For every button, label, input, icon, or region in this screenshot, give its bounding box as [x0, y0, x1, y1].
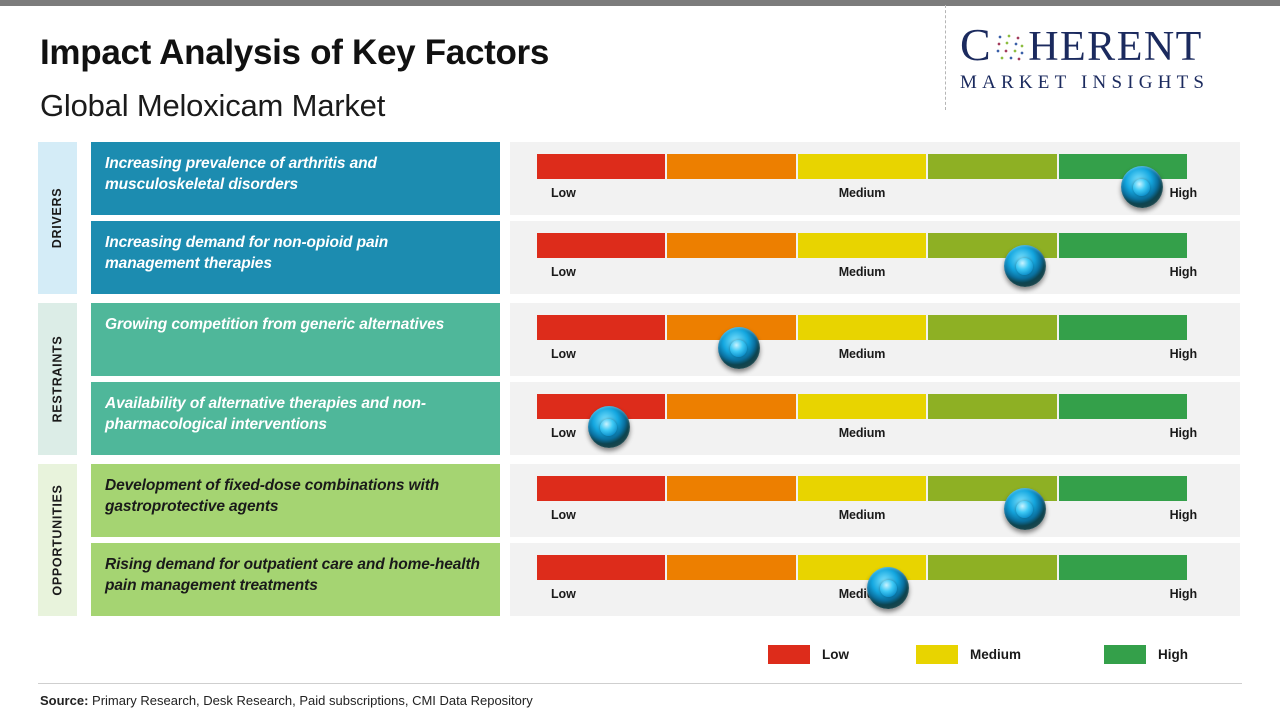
- group-rows: Development of fixed-dose combinations w…: [91, 464, 1280, 616]
- factor-groups: DRIVERS Increasing prevalence of arthrit…: [0, 142, 1280, 616]
- page-title: Impact Analysis of Key Factors: [40, 33, 549, 73]
- top-border-strip: [0, 0, 1280, 6]
- gauge-bar: [537, 394, 1187, 419]
- factor-label-box[interactable]: Development of fixed-dose combinations w…: [91, 464, 500, 537]
- gauge-scale-labels: Low Medium High: [537, 587, 1187, 605]
- category-tab-restraints: RESTRAINTS: [38, 303, 77, 455]
- factor-row: Increasing demand for non-opioid pain ma…: [91, 221, 1280, 294]
- gauge-segment-3: [798, 476, 926, 501]
- impact-gauge: Low Medium High: [510, 221, 1240, 294]
- group-drivers: DRIVERS Increasing prevalence of arthrit…: [0, 142, 1280, 294]
- source-text: Primary Research, Desk Research, Paid su…: [88, 693, 532, 708]
- gauge-scale-labels: Low Medium High: [537, 508, 1187, 526]
- factor-label-box[interactable]: Growing competition from generic alterna…: [91, 303, 500, 376]
- impact-gauge: Low Medium High: [510, 303, 1240, 376]
- gauge-segment-5: [1059, 154, 1187, 179]
- scale-label-high: High: [1170, 265, 1197, 279]
- gauge-segment-4: [928, 315, 1056, 340]
- impact-gauge: Low Medium High: [510, 464, 1240, 537]
- legend: Low Medium High: [768, 645, 1188, 667]
- scale-label-low: Low: [551, 508, 576, 522]
- scale-label-low: Low: [551, 587, 576, 601]
- impact-gauge: Low Medium High: [510, 382, 1240, 455]
- scale-label-medium: Medium: [839, 186, 886, 200]
- factor-row: Increasing prevalence of arthritis and m…: [91, 142, 1280, 215]
- factor-row: Development of fixed-dose combinations w…: [91, 464, 1280, 537]
- scale-label-high: High: [1170, 186, 1197, 200]
- scale-label-high: High: [1170, 587, 1197, 601]
- category-tab-drivers: DRIVERS: [38, 142, 77, 294]
- legend-label-low: Low: [822, 647, 849, 662]
- legend-swatch-low: [768, 645, 810, 664]
- gauge-segment-4: [928, 555, 1056, 580]
- gauge-segment-3: [798, 394, 926, 419]
- gauge-segment-3: [798, 233, 926, 258]
- gauge-bar: [537, 233, 1187, 258]
- group-opportunities: OPPORTUNITIES Development of fixed-dose …: [0, 464, 1280, 616]
- gauge-segment-2: [667, 555, 795, 580]
- gauge-segment-2: [667, 394, 795, 419]
- gauge-segment-1: [537, 154, 665, 179]
- legend-item-medium: Medium: [916, 645, 1021, 664]
- scale-label-low: Low: [551, 186, 576, 200]
- gauge-segment-5: [1059, 476, 1187, 501]
- factor-label-box[interactable]: Increasing prevalence of arthritis and m…: [91, 142, 500, 215]
- impact-gauge: Low Medium High: [510, 543, 1240, 616]
- impact-marker-knob[interactable]: [1121, 166, 1163, 208]
- header-divider: [945, 5, 946, 110]
- gauge-segment-4: [928, 394, 1056, 419]
- logo-letter-c: C: [960, 19, 992, 70]
- group-rows: Increasing prevalence of arthritis and m…: [91, 142, 1280, 294]
- scale-label-high: High: [1170, 426, 1197, 440]
- gauge-segment-5: [1059, 555, 1187, 580]
- impact-marker-knob[interactable]: [718, 327, 760, 369]
- gauge-segment-1: [537, 233, 665, 258]
- group-restraints: RESTRAINTS Growing competition from gene…: [0, 303, 1280, 455]
- impact-marker-knob[interactable]: [1004, 245, 1046, 287]
- impact-marker-knob[interactable]: [1004, 488, 1046, 530]
- logo-wordmark: CHERENT: [960, 22, 1260, 68]
- legend-label-high: High: [1158, 647, 1188, 662]
- impact-gauge: Low Medium High: [510, 142, 1240, 215]
- gauge-segment-2: [667, 476, 795, 501]
- gauge-segment-1: [537, 555, 665, 580]
- group-rows: Growing competition from generic alterna…: [91, 303, 1280, 455]
- legend-item-high: High: [1104, 645, 1188, 664]
- gauge-segment-2: [667, 154, 795, 179]
- gauge-segment-5: [1059, 315, 1187, 340]
- factor-row: Availability of alternative therapies an…: [91, 382, 1280, 455]
- factor-row: Rising demand for outpatient care and ho…: [91, 543, 1280, 616]
- infographic-page: Impact Analysis of Key Factors Global Me…: [0, 0, 1280, 720]
- scale-label-medium: Medium: [839, 265, 886, 279]
- legend-swatch-medium: [916, 645, 958, 664]
- gauge-scale-labels: Low Medium High: [537, 426, 1187, 444]
- scale-label-medium: Medium: [839, 426, 886, 440]
- gauge-segment-1: [537, 315, 665, 340]
- factor-row: Growing competition from generic alterna…: [91, 303, 1280, 376]
- gauge-bar: [537, 476, 1187, 501]
- gauge-scale-labels: Low Medium High: [537, 186, 1187, 204]
- gauge-bar: [537, 555, 1187, 580]
- logo-word-remainder: HERENT: [1028, 24, 1203, 70]
- scale-label-low: Low: [551, 265, 576, 279]
- category-label: RESTRAINTS: [51, 336, 65, 423]
- category-label: OPPORTUNITIES: [51, 484, 65, 595]
- source-label: Source:: [40, 693, 88, 708]
- gauge-segment-1: [537, 476, 665, 501]
- gauge-segment-2: [667, 233, 795, 258]
- gauge-segment-3: [798, 315, 926, 340]
- gauge-scale-labels: Low Medium High: [537, 265, 1187, 283]
- category-label: DRIVERS: [51, 188, 65, 248]
- scale-label-high: High: [1170, 347, 1197, 361]
- scale-label-medium: Medium: [839, 508, 886, 522]
- gauge-bar: [537, 315, 1187, 340]
- gauge-scale-labels: Low Medium High: [537, 347, 1187, 365]
- impact-marker-knob[interactable]: [867, 567, 909, 609]
- logo-tagline: MARKET INSIGHTS: [960, 72, 1260, 94]
- company-logo: CHERENT MARKET INSIGHTS: [960, 22, 1260, 102]
- scale-label-high: High: [1170, 508, 1197, 522]
- factor-label-box[interactable]: Rising demand for outpatient care and ho…: [91, 543, 500, 616]
- gauge-segment-3: [798, 154, 926, 179]
- gauge-segment-4: [928, 154, 1056, 179]
- scale-label-medium: Medium: [839, 347, 886, 361]
- impact-marker-knob[interactable]: [588, 406, 630, 448]
- source-line: Source: Primary Research, Desk Research,…: [40, 693, 533, 708]
- gauge-segment-5: [1059, 394, 1187, 419]
- page-subtitle: Global Meloxicam Market: [40, 88, 385, 124]
- legend-item-low: Low: [768, 645, 849, 664]
- gauge-segment-5: [1059, 233, 1187, 258]
- category-tab-opportunities: OPPORTUNITIES: [38, 464, 77, 616]
- scale-label-low: Low: [551, 426, 576, 440]
- dotted-globe-icon: [993, 30, 1027, 64]
- scale-label-low: Low: [551, 347, 576, 361]
- gauge-bar: [537, 154, 1187, 179]
- factor-label-box[interactable]: Availability of alternative therapies an…: [91, 382, 500, 455]
- factor-label-box[interactable]: Increasing demand for non-opioid pain ma…: [91, 221, 500, 294]
- legend-label-medium: Medium: [970, 647, 1021, 662]
- footer-divider: [38, 683, 1242, 684]
- gauge-segment-3: [798, 555, 926, 580]
- legend-swatch-high: [1104, 645, 1146, 664]
